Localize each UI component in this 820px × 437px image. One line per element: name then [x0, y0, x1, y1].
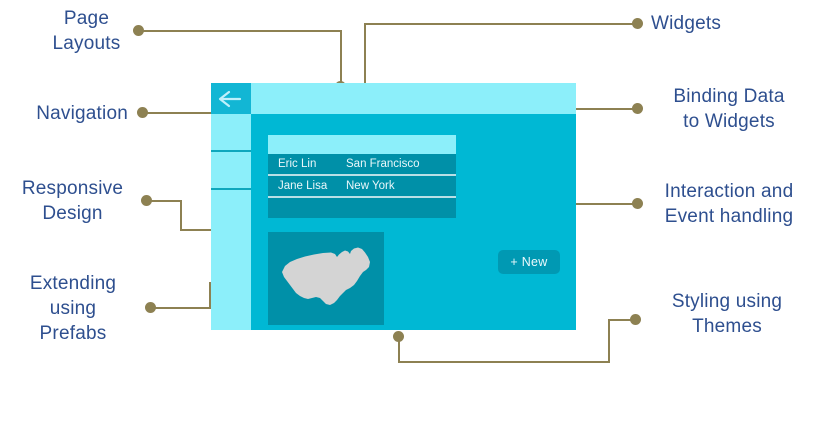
connector-extending-h1: [150, 307, 211, 309]
callout-label-responsive-design: Responsive Design: [10, 176, 135, 226]
connector-dot-extending-start: [145, 302, 156, 313]
app-navigation-sidebar[interactable]: [211, 114, 251, 330]
sidebar-item-3[interactable]: [211, 190, 251, 260]
cell-city: New York: [346, 180, 456, 192]
callout-label-extending-prefabs: Extending using Prefabs: [12, 271, 134, 346]
data-grid-footer-row: [268, 198, 456, 218]
app-window-mockup: Eric Lin San Francisco Jane Lisa New Yor…: [211, 83, 576, 330]
new-button-label: + New: [510, 255, 547, 269]
callout-label-page-layouts: Page Layouts: [44, 6, 129, 56]
connector-widgets-h: [364, 23, 636, 25]
connector-styling-h1: [398, 361, 610, 363]
diagram-canvas: Page Layouts Navigation Responsive Desig…: [0, 0, 820, 437]
data-grid-header-row: [268, 135, 456, 154]
back-arrow-button[interactable]: [211, 83, 251, 114]
connector-dot-styling-end: [630, 314, 641, 325]
sidebar-item-4[interactable]: [211, 260, 251, 330]
callout-label-navigation: Navigation: [10, 101, 128, 126]
connector-dot-styling-start: [393, 331, 404, 342]
connector-dot-widgets-start: [632, 18, 643, 29]
map-widget[interactable]: [268, 232, 384, 325]
table-row[interactable]: Eric Lin San Francisco: [268, 154, 456, 176]
callout-label-widgets: Widgets: [651, 11, 801, 36]
back-arrow-icon: [218, 90, 244, 108]
new-button[interactable]: + New: [498, 250, 560, 274]
app-content-area: Eric Lin San Francisco Jane Lisa New Yor…: [251, 114, 576, 330]
connector-page-layouts-h: [138, 30, 342, 32]
callout-label-interaction-events: Interaction and Event handling: [645, 179, 813, 229]
connector-dot-navigation-start: [137, 107, 148, 118]
cell-name: Eric Lin: [268, 158, 346, 170]
sidebar-item-1[interactable]: [211, 114, 251, 152]
table-row[interactable]: Jane Lisa New York: [268, 176, 456, 198]
sidebar-item-2[interactable]: [211, 152, 251, 190]
connector-page-layouts-v: [340, 30, 342, 86]
callout-label-binding-data: Binding Data to Widgets: [648, 84, 810, 134]
connector-responsive-v: [180, 200, 182, 231]
app-header-bar: [211, 83, 576, 114]
cell-city: San Francisco: [346, 158, 456, 170]
connector-dot-page-layouts-start: [133, 25, 144, 36]
connector-dot-binding-start: [632, 103, 643, 114]
connector-dot-interaction-start: [632, 198, 643, 209]
data-grid-widget[interactable]: Eric Lin San Francisco Jane Lisa New Yor…: [268, 135, 456, 216]
cell-name: Jane Lisa: [268, 180, 346, 192]
callout-label-styling-themes: Styling using Themes: [647, 289, 807, 339]
connector-dot-responsive-start: [141, 195, 152, 206]
connector-styling-v2: [608, 320, 610, 362]
